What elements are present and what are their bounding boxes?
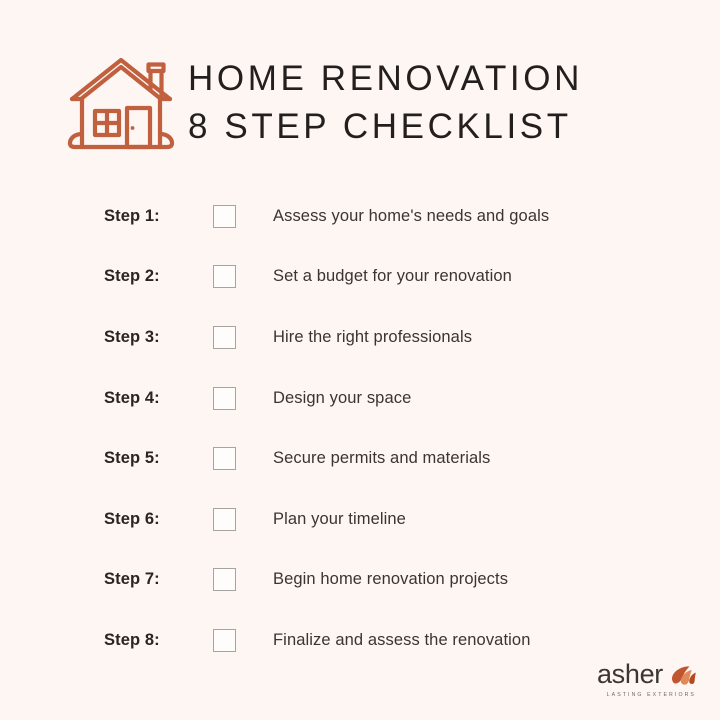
checklist-row: Step 7: Begin home renovation projects [0, 550, 720, 611]
step-task-text: Begin home renovation projects [273, 570, 508, 589]
step-label: Step 3: [104, 328, 160, 347]
checklist-row: Step 1: Assess your home's needs and goa… [0, 186, 720, 247]
header: HOME RENOVATION 8 STEP CHECKLIST [62, 44, 583, 162]
checkbox-step-1[interactable] [213, 205, 236, 228]
checklist-row: Step 6: Plan your timeline [0, 489, 720, 550]
checklist-row: Step 2: Set a budget for your renovation [0, 247, 720, 308]
brand-logo: asher LASTING EXTERIORS [597, 660, 698, 698]
checklist: Step 1: Assess your home's needs and goa… [0, 186, 720, 671]
checkbox-step-3[interactable] [213, 326, 236, 349]
step-label: Step 5: [104, 449, 160, 468]
step-task-text: Set a budget for your renovation [273, 267, 512, 286]
checkbox-step-7[interactable] [213, 568, 236, 591]
step-label: Step 2: [104, 267, 160, 286]
logo-wordmark: asher [597, 661, 663, 688]
checkbox-step-8[interactable] [213, 629, 236, 652]
house-icon [62, 44, 180, 162]
step-label: Step 7: [104, 570, 160, 589]
step-label: Step 8: [104, 631, 160, 650]
step-task-text: Design your space [273, 389, 411, 408]
step-label: Step 4: [104, 389, 160, 408]
asher-swoosh-icon [668, 660, 698, 688]
logo-row: asher [597, 660, 698, 688]
checklist-row: Step 4: Design your space [0, 368, 720, 429]
checkbox-step-5[interactable] [213, 447, 236, 470]
title-line-1: HOME RENOVATION [188, 55, 583, 103]
step-task-text: Plan your timeline [273, 510, 406, 529]
step-task-text: Secure permits and materials [273, 449, 490, 468]
title-line-2: 8 STEP CHECKLIST [188, 103, 583, 151]
checkbox-step-2[interactable] [213, 265, 236, 288]
step-task-text: Assess your home's needs and goals [273, 207, 549, 226]
logo-tagline: LASTING EXTERIORS [607, 692, 696, 698]
checkbox-step-6[interactable] [213, 508, 236, 531]
checklist-row: Step 5: Secure permits and materials [0, 428, 720, 489]
step-task-text: Hire the right professionals [273, 328, 472, 347]
page-title: HOME RENOVATION 8 STEP CHECKLIST [188, 55, 583, 151]
step-label: Step 6: [104, 510, 160, 529]
step-label: Step 1: [104, 207, 160, 226]
step-task-text: Finalize and assess the renovation [273, 631, 530, 650]
checkbox-step-4[interactable] [213, 387, 236, 410]
checklist-poster: HOME RENOVATION 8 STEP CHECKLIST Step 1:… [0, 0, 720, 720]
checklist-row: Step 3: Hire the right professionals [0, 307, 720, 368]
